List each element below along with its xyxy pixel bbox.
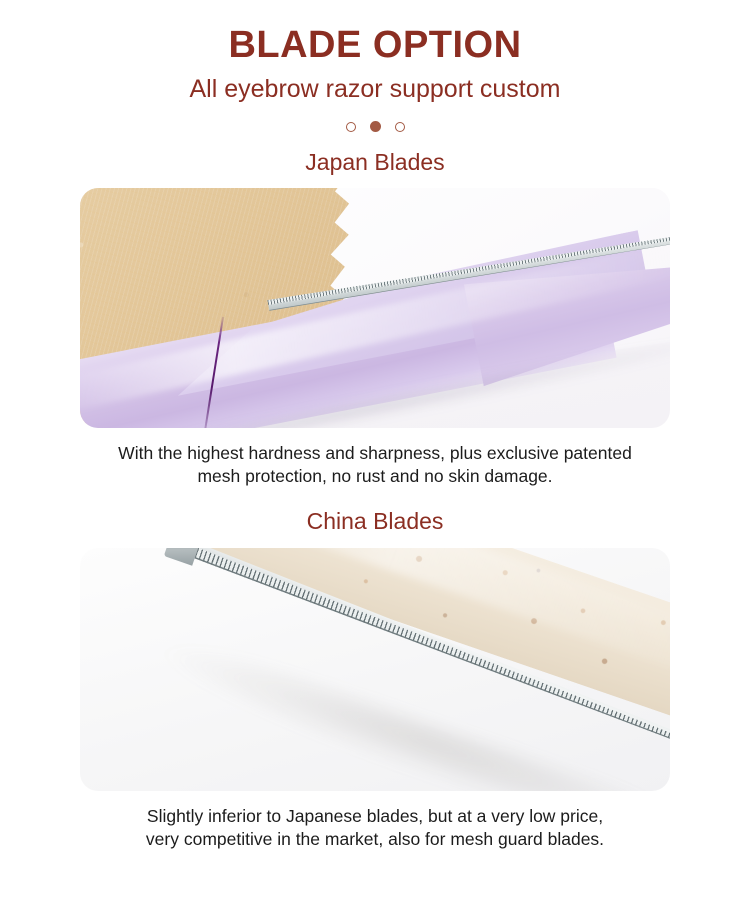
caption-japan-blades: With the highest hardness and sharpness,… <box>0 428 750 489</box>
page-title: BLADE OPTION <box>0 0 750 64</box>
wheat-straw-razor <box>135 548 670 791</box>
caption-line: mesh protection, no rust and no skin dam… <box>0 465 750 488</box>
caption-china-blades: Slightly inferior to Japanese blades, bu… <box>0 791 750 852</box>
page-subtitle: All eyebrow razor support custom <box>0 64 750 102</box>
caption-line: Slightly inferior to Japanese blades, bu… <box>0 805 750 828</box>
section-heading-china-blades: China Blades <box>0 489 750 533</box>
carousel-dot-1[interactable] <box>346 122 356 132</box>
carousel-dot-3[interactable] <box>395 122 405 132</box>
carousel-dots[interactable] <box>0 102 750 132</box>
caption-line: With the highest hardness and sharpness,… <box>0 442 750 465</box>
product-photo-china-blades <box>80 548 670 791</box>
section-heading-japan-blades: Japan Blades <box>0 132 750 174</box>
photo-backdrop <box>80 188 670 428</box>
carousel-dot-2-active[interactable] <box>370 121 381 132</box>
photo-backdrop <box>80 548 670 791</box>
blade-option-page: BLADE OPTION All eyebrow razor support c… <box>0 0 750 901</box>
product-photo-japan-blades <box>80 188 670 428</box>
caption-line: very competitive in the market, also for… <box>0 828 750 851</box>
